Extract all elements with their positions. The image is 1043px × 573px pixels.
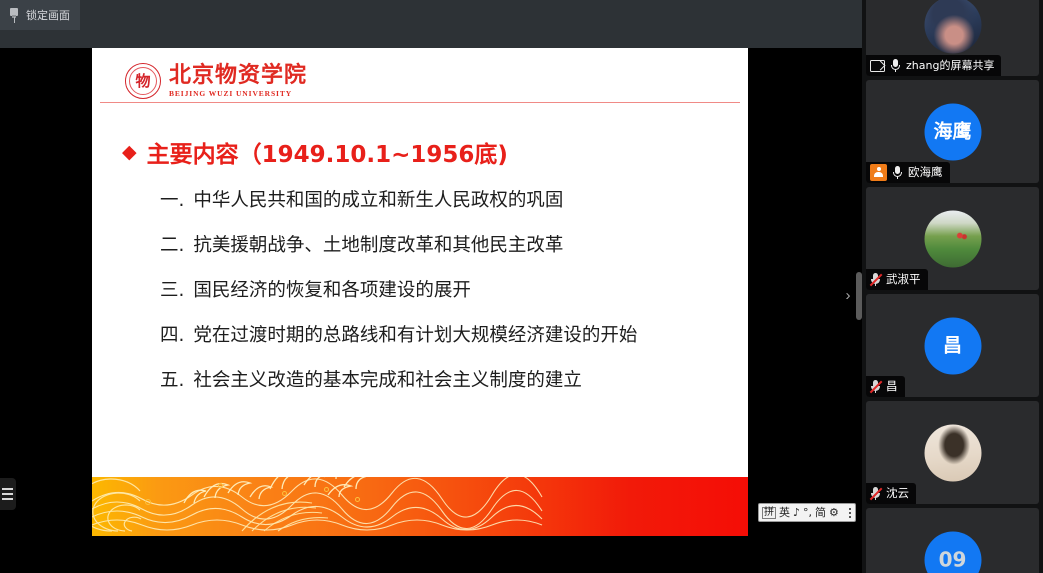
participant-name: 欧海鹰: [908, 167, 943, 179]
slide-list-item-text: 党在过渡时期的总路线和有计划大规模经济建设的开始: [193, 321, 637, 347]
avatar-photo: [924, 424, 981, 481]
bubble-decoration: [218, 483, 223, 488]
diamond-bullet-icon: ◆: [122, 143, 137, 162]
shared-slide[interactable]: 物 北京物资学院 BEIJING WUZI UNIVERSITY ◆ 主要内容（…: [92, 48, 748, 536]
bubble-decoration: [324, 487, 329, 492]
simplified-chinese[interactable]: 简: [815, 507, 826, 518]
slide-list-item-text: 国民经济的恢复和各项建设的展开: [193, 276, 471, 302]
bubble-decoration: [145, 499, 151, 505]
hamburger-menu-icon-bar: [2, 498, 13, 500]
participant-tile[interactable]: zhang的屏幕共享: [866, 0, 1039, 76]
top-toolbar: 锁定画面: [0, 0, 862, 48]
slide-list-item-text: 抗美援朝战争、土地制度改革和其他民主改革: [193, 231, 563, 257]
avatar: [924, 210, 981, 267]
slide-title-text: 主要内容（1949.10.1~1956底): [147, 135, 508, 169]
avatar-initials: 海鹰: [933, 122, 971, 141]
slide-list-item: 三.国民经济的恢复和各项建设的展开: [160, 276, 730, 302]
bubble-decoration: [355, 497, 360, 502]
slide-list-item-number: 四.: [160, 321, 184, 347]
participant-tile[interactable]: 昌昌: [866, 294, 1039, 397]
slide-list-item-text: 社会主义改造的基本完成和社会主义制度的建立: [193, 366, 582, 392]
slide-list-item-number: 五.: [160, 366, 184, 392]
collapse-sidebar-chevron-icon[interactable]: ›: [840, 285, 856, 307]
participant-label: 武淑平: [866, 269, 928, 290]
avatar: 09: [924, 531, 981, 573]
chinese-wave-pattern-icon: [92, 477, 562, 536]
avatar-initials: 昌: [943, 336, 962, 355]
screen-share-icon: [870, 60, 885, 72]
slide-list-item: 二.抗美援朝战争、土地制度改革和其他民主改革: [160, 231, 730, 257]
participant-label: 昌: [866, 376, 905, 397]
participant-tile[interactable]: 武淑平: [866, 187, 1039, 290]
slide-content-list: 一.中华人民共和国的成立和新生人民政权的巩固二.抗美援朝战争、土地制度改革和其他…: [160, 186, 730, 392]
left-menu-toggle[interactable]: [0, 478, 16, 510]
music-note[interactable]: ♪: [793, 507, 800, 518]
avatar: [924, 424, 981, 481]
university-seal-icon: 物: [125, 63, 161, 99]
participant-name: 武淑平: [886, 274, 921, 286]
participant-name: zhang的屏幕共享: [906, 60, 994, 71]
participant-tile[interactable]: 海鹰欧海鹰: [866, 80, 1039, 183]
seal-glyph: 物: [135, 74, 150, 89]
avatar-photo: [924, 0, 981, 53]
slide-list-item-number: 三.: [160, 276, 184, 302]
language-english[interactable]: 英: [779, 507, 790, 518]
participant-name: 沈云: [886, 488, 909, 500]
mic-icon[interactable]: [890, 59, 901, 73]
pin-icon: [8, 7, 20, 23]
slide-list-item-text: 中华人民共和国的成立和新生人民政权的巩固: [193, 186, 563, 212]
avatar-photo: [924, 210, 981, 267]
ime-toolbar[interactable]: 拼英♪°,简⚙: [758, 503, 856, 522]
hamburger-menu-icon: [2, 488, 13, 490]
hamburger-menu-icon-bar: [2, 493, 13, 495]
settings-gear[interactable]: ⚙: [829, 507, 839, 518]
avatar: [924, 0, 981, 53]
slide-list-item: 五.社会主义改造的基本完成和社会主义制度的建立: [160, 366, 730, 392]
university-logo: 物 北京物资学院 BEIJING WUZI UNIVERSITY: [125, 63, 307, 99]
bubble-decoration: [282, 491, 287, 496]
participant-label: zhang的屏幕共享: [866, 55, 1001, 76]
slide-list-item: 四.党在过渡时期的总路线和有计划大规模经济建设的开始: [160, 321, 730, 347]
slide-list-item: 一.中华人民共和国的成立和新生人民政权的巩固: [160, 186, 730, 212]
lock-screen-button[interactable]: 锁定画面: [0, 0, 80, 30]
host-badge-icon: [870, 164, 887, 181]
mic-muted-icon[interactable]: [870, 380, 881, 394]
university-name-cn: 北京物资学院: [169, 64, 307, 87]
punctuation-toggle[interactable]: °,: [803, 507, 812, 518]
participant-name: 昌: [886, 381, 898, 393]
participant-rail[interactable]: zhang的屏幕共享海鹰欧海鹰武淑平昌昌沈云09: [862, 0, 1043, 573]
header-divider: [100, 102, 740, 103]
avatar: 海鹰: [924, 103, 981, 160]
mic-muted-icon[interactable]: [870, 487, 881, 501]
participant-tile[interactable]: 09: [866, 508, 1039, 573]
lock-screen-label: 锁定画面: [26, 7, 70, 23]
mic-muted-icon[interactable]: [870, 273, 881, 287]
slide-title: ◆ 主要内容（1949.10.1~1956底): [122, 135, 508, 169]
avatar-initials: 09: [939, 550, 967, 570]
university-name-en: BEIJING WUZI UNIVERSITY: [169, 89, 307, 98]
avatar: 昌: [924, 317, 981, 374]
wave-decoration-band: [92, 477, 748, 536]
slide-list-item-number: 一.: [160, 186, 184, 212]
slide-list-item-number: 二.: [160, 231, 184, 257]
participant-label: 沈云: [866, 483, 916, 504]
input-mode-pinyin[interactable]: 拼: [762, 507, 776, 519]
ime-drag-handle[interactable]: [849, 508, 852, 518]
participant-label: 欧海鹰: [866, 162, 950, 183]
participant-tile[interactable]: 沈云: [866, 401, 1039, 504]
mic-icon[interactable]: [892, 166, 903, 180]
